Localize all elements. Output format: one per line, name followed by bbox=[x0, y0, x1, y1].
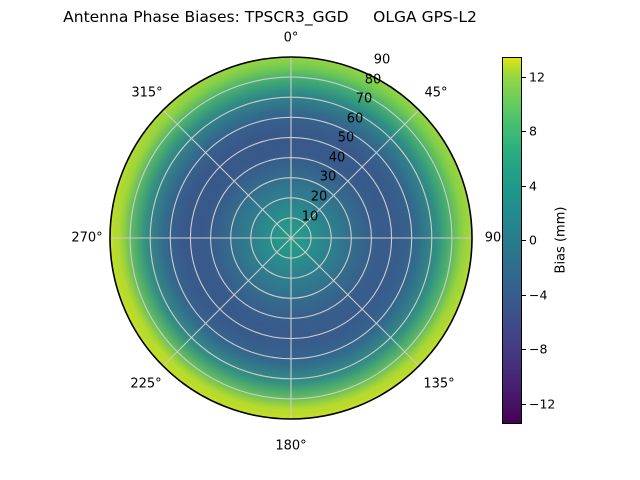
angular-tick-180: 180° bbox=[275, 439, 306, 454]
colorbar-tickmark-m12 bbox=[522, 404, 526, 405]
colorbar-axis-label: Bias (mm) bbox=[554, 207, 569, 274]
colorbar-tickmark-0 bbox=[522, 240, 526, 241]
angular-tick-90: 90 bbox=[485, 231, 502, 246]
radial-tick-90: 90 bbox=[374, 53, 391, 68]
polar-plot-svg bbox=[109, 56, 473, 420]
colorbar-label-m8: −8 bbox=[529, 342, 547, 357]
radial-tick-80: 80 bbox=[365, 73, 382, 88]
angular-tick-315: 315° bbox=[131, 86, 162, 101]
polar-axes: 0° 45° 90 135° 180° 225° 270° 315° 10 20… bbox=[109, 56, 473, 420]
colorbar-gradient bbox=[502, 57, 522, 424]
angular-tick-270: 270° bbox=[71, 231, 102, 246]
angular-tick-135: 135° bbox=[423, 377, 454, 392]
radial-tick-70: 70 bbox=[356, 92, 373, 107]
colorbar-label-12: 12 bbox=[529, 70, 545, 85]
radial-tick-40: 40 bbox=[329, 151, 346, 166]
radial-tick-20: 20 bbox=[311, 190, 328, 205]
colorbar-label-8: 8 bbox=[529, 124, 537, 139]
colorbar-tickmark-8 bbox=[522, 131, 526, 132]
colorbar-label-m4: −4 bbox=[529, 288, 547, 303]
colorbar-tickmark-m4 bbox=[522, 295, 526, 296]
angular-tick-45: 45° bbox=[424, 86, 447, 101]
figure-canvas: Antenna Phase Biases: TPSCR3_GGD OLGA GP… bbox=[0, 0, 640, 480]
radial-tick-50: 50 bbox=[338, 131, 355, 146]
colorbar-tickmark-12 bbox=[522, 77, 526, 78]
radial-tick-10: 10 bbox=[302, 210, 319, 225]
colorbar: 12 8 4 0 −4 −8 −12 bbox=[502, 57, 522, 424]
radial-tick-30: 30 bbox=[320, 170, 337, 185]
colorbar-label-m12: −12 bbox=[529, 397, 555, 412]
colorbar-label-4: 4 bbox=[529, 179, 537, 194]
angular-tick-0: 0° bbox=[284, 31, 299, 46]
polar-grid bbox=[110, 57, 472, 419]
angular-tick-225: 225° bbox=[130, 377, 161, 392]
chart-title: Antenna Phase Biases: TPSCR3_GGD OLGA GP… bbox=[0, 8, 540, 26]
radial-tick-60: 60 bbox=[347, 112, 364, 127]
colorbar-label-0: 0 bbox=[529, 233, 537, 248]
colorbar-tickmark-m8 bbox=[522, 349, 526, 350]
colorbar-tickmark-4 bbox=[522, 186, 526, 187]
